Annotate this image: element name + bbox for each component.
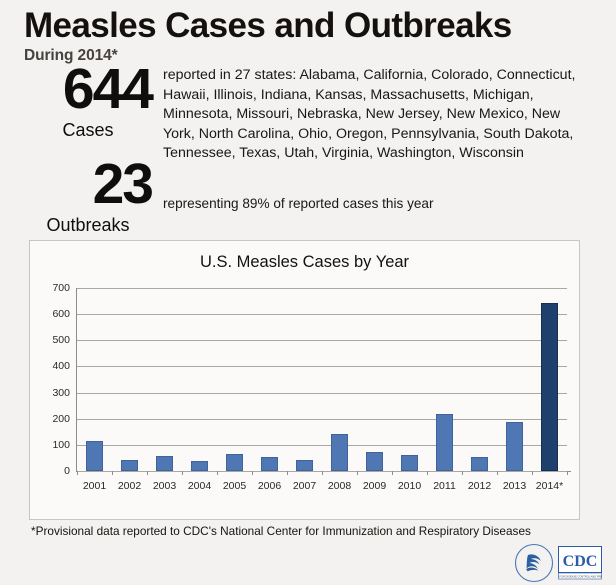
- y-axis-tick-label: 600: [52, 308, 70, 320]
- chart-bar-slot: 2012: [462, 288, 497, 471]
- x-axis-tick-mark: [462, 471, 463, 475]
- states-description: reported in 27 states: Alabama, Californ…: [163, 66, 583, 164]
- y-axis-tick-label: 700: [52, 282, 70, 294]
- representing-description: representing 89% of reported cases this …: [163, 195, 583, 213]
- x-axis-tick-label: 2008: [328, 480, 351, 492]
- chart-bar-slot: 2009: [357, 288, 392, 471]
- x-axis-tick-mark: [112, 471, 113, 475]
- x-axis-tick-label: 2014*: [536, 480, 563, 492]
- chart-bar: [156, 456, 172, 471]
- x-axis-tick-mark: [497, 471, 498, 475]
- x-axis-tick-label: 2001: [83, 480, 106, 492]
- chart-bar-slot: 2003: [147, 288, 182, 471]
- chart-bar: [191, 461, 207, 471]
- chart-bars: 2001200220032004200520062007200820092010…: [77, 288, 567, 471]
- x-axis-tick-label: 2010: [398, 480, 421, 492]
- x-axis-tick-label: 2009: [363, 480, 386, 492]
- x-axis-tick-label: 2005: [223, 480, 246, 492]
- y-axis-tick-label: 500: [52, 334, 70, 346]
- chart-bar-slot: 2005: [217, 288, 252, 471]
- cases-label: Cases: [20, 119, 160, 141]
- chart-bar: [471, 457, 487, 471]
- x-axis-tick-label: 2006: [258, 480, 281, 492]
- chart-bar: [366, 452, 382, 471]
- x-axis-tick-label: 2002: [118, 480, 141, 492]
- chart-plot-inner: 0100200300400500600700 20012002200320042…: [77, 288, 567, 471]
- x-axis-tick-mark: [252, 471, 253, 475]
- chart-bar-slot: 2010: [392, 288, 427, 471]
- x-axis-tick-mark: [567, 471, 568, 475]
- footnote: *Provisional data reported to CDC's Nati…: [31, 524, 531, 538]
- y-axis-tick-label: 100: [52, 439, 70, 451]
- chart-panel: U.S. Measles Cases by Year 0100200300400…: [29, 240, 580, 520]
- cases-number: 644: [20, 62, 160, 117]
- y-axis-tick-label: 200: [52, 413, 70, 425]
- y-axis-tick-label: 0: [64, 465, 70, 477]
- chart-bar-slot: 2006: [252, 288, 287, 471]
- outbreaks-number: 23: [20, 157, 160, 212]
- chart-bar: [506, 422, 522, 471]
- chart-bar-slot: 2014*: [532, 288, 567, 471]
- chart-bar: [331, 434, 347, 471]
- chart-bar: [121, 460, 137, 472]
- x-axis-tick-mark: [147, 471, 148, 475]
- stats-block: 644 Cases 23 Outbreaks: [20, 62, 160, 236]
- stat-cases: 644 Cases: [20, 62, 160, 141]
- svg-text:CDC: CDC: [563, 553, 598, 570]
- cdc-logo: CDC CENTERS FOR DISEASE CONTROL AND PREV…: [558, 546, 602, 580]
- y-axis-tick-label: 300: [52, 387, 70, 399]
- x-axis-tick-label: 2013: [503, 480, 526, 492]
- chart-bar-slot: 2004: [182, 288, 217, 471]
- x-axis-tick-mark: [427, 471, 428, 475]
- x-axis-tick-mark: [77, 471, 78, 475]
- y-axis-tick-label: 400: [52, 360, 70, 372]
- chart-bar: [226, 454, 242, 471]
- x-axis-tick-label: 2004: [188, 480, 211, 492]
- stat-outbreaks: 23 Outbreaks: [20, 157, 160, 236]
- logo-group: CDC CENTERS FOR DISEASE CONTROL AND PREV…: [514, 543, 602, 583]
- chart-title: U.S. Measles Cases by Year: [30, 253, 579, 272]
- chart-bar: [541, 303, 557, 471]
- page-title: Measles Cases and Outbreaks: [24, 6, 604, 46]
- chart-bar: [261, 457, 277, 471]
- outbreaks-label: Outbreaks: [20, 214, 160, 236]
- x-axis-tick-mark: [182, 471, 183, 475]
- x-axis-tick-label: 2011: [433, 480, 456, 492]
- x-axis-tick-mark: [217, 471, 218, 475]
- chart-bar: [86, 441, 102, 471]
- x-axis-tick-mark: [287, 471, 288, 475]
- chart-bar: [401, 455, 417, 471]
- chart-plot-area: 0100200300400500600700 20012002200320042…: [77, 288, 567, 471]
- chart-bar-slot: 2013: [497, 288, 532, 471]
- chart-bar-slot: 2001: [77, 288, 112, 471]
- x-axis-tick-label: 2012: [468, 480, 491, 492]
- svg-text:CENTERS FOR DISEASE CONTROL AN: CENTERS FOR DISEASE CONTROL AND PREVENTI…: [558, 575, 602, 579]
- chart-bar: [296, 460, 312, 471]
- chart-bar-slot: 2008: [322, 288, 357, 471]
- x-axis-tick-label: 2007: [293, 480, 316, 492]
- x-axis-tick-mark: [532, 471, 533, 475]
- infographic-page: Measles Cases and Outbreaks During 2014*…: [0, 0, 616, 585]
- x-axis-tick-mark: [322, 471, 323, 475]
- chart-bar: [436, 414, 452, 472]
- x-axis-tick-mark: [392, 471, 393, 475]
- x-axis-tick-label: 2003: [153, 480, 176, 492]
- chart-bar-slot: 2007: [287, 288, 322, 471]
- x-axis-tick-mark: [357, 471, 358, 475]
- chart-bar-slot: 2002: [112, 288, 147, 471]
- hhs-seal-icon: [514, 543, 554, 583]
- chart-bar-slot: 2011: [427, 288, 462, 471]
